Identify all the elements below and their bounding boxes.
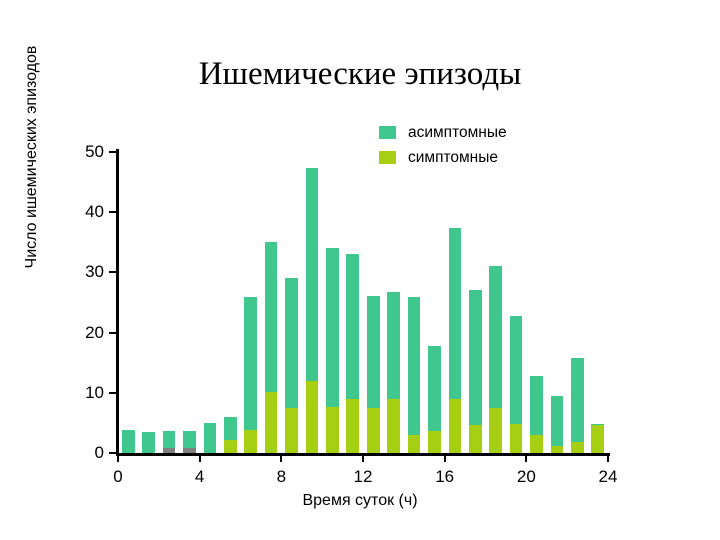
bar-hour-23 [591, 424, 604, 453]
bar-hour-8 [285, 278, 298, 453]
bar-segment-asymptomatic [469, 290, 482, 424]
bar-segment-symptomatic [387, 399, 400, 453]
bar-segment-asymptomatic [428, 346, 441, 431]
y-axis-tick-label: 10 [85, 383, 104, 403]
bar-segment-symptomatic [265, 392, 278, 453]
y-axis-label: Число ишемических эпизодов [23, 0, 41, 367]
bar-segment-asymptomatic [285, 278, 298, 407]
bar-segment-asymptomatic [183, 431, 196, 448]
x-axis-tick-label: 16 [435, 467, 454, 487]
bar-segment-symptomatic [469, 425, 482, 453]
bar-segment-asymptomatic [346, 254, 359, 399]
x-axis-tick [444, 453, 446, 462]
bar-segment-symptomatic [224, 440, 237, 453]
bar-segment-symptomatic [306, 381, 319, 453]
bar-hour-16 [449, 228, 462, 453]
bar-hour-9 [306, 168, 319, 453]
legend-item-asymptomatic: асимптомные [379, 122, 507, 143]
x-axis-tick [117, 453, 119, 462]
bar-hour-15 [428, 346, 441, 453]
bar-hour-13 [387, 292, 400, 453]
x-axis-label: Время суток (ч) [0, 492, 720, 510]
y-axis-tick-label: 0 [95, 443, 104, 463]
x-axis-tick-label: 12 [354, 467, 373, 487]
plot-area: 0102030405004812162024 [118, 152, 608, 453]
bar-hour-18 [489, 266, 502, 453]
bar-hour-20 [530, 376, 543, 453]
x-axis-tick-label: 8 [277, 467, 286, 487]
bar-segment-symptomatic [571, 442, 584, 453]
bar-segment-asymptomatic [387, 292, 400, 399]
y-axis-tick-label: 40 [85, 202, 104, 222]
bar-segment-asymptomatic [530, 376, 543, 435]
bar-hour-17 [469, 290, 482, 453]
bar-segment-asymptomatic [489, 266, 502, 407]
y-axis-tick-label: 30 [85, 262, 104, 282]
bar-segment-symptomatic [551, 446, 564, 453]
chart-title: Ишемические эпизоды [0, 56, 720, 92]
bar-segment-asymptomatic [510, 316, 523, 424]
y-axis-tick-label: 50 [85, 142, 104, 162]
bar-hour-11 [346, 254, 359, 453]
bar-segment-asymptomatic [367, 296, 380, 408]
y-axis-tick-label: 20 [85, 323, 104, 343]
bar-segment-asymptomatic [244, 297, 257, 430]
bar-hour-19 [510, 316, 523, 453]
bar-segment-symptomatic [449, 399, 462, 453]
bar-hour-14 [408, 297, 421, 454]
bar-hour-3 [183, 431, 196, 453]
bar-segment-symptomatic [408, 435, 421, 453]
bar-segment-asymptomatic [122, 430, 135, 453]
y-axis-tick [109, 151, 118, 153]
bar-segment-asymptomatic [224, 417, 237, 440]
bar-segment-symptomatic [326, 407, 339, 453]
bar-segment-symptomatic [367, 408, 380, 453]
bar-segment-symptomatic [489, 408, 502, 453]
bar-hour-6 [244, 297, 257, 454]
bar-segment-asymptomatic [571, 358, 584, 442]
y-axis-tick [109, 211, 118, 213]
bar-segment-symptomatic [530, 435, 543, 453]
bar-segment-asymptomatic [326, 248, 339, 407]
bar-hour-5 [224, 417, 237, 453]
bar-segment-asymptomatic [163, 431, 176, 448]
bar-hour-2 [163, 431, 176, 453]
bar-segment-asymptomatic [204, 423, 217, 453]
x-axis-tick-label: 0 [113, 467, 122, 487]
x-axis-tick [280, 453, 282, 462]
bar-segment-symptomatic [346, 399, 359, 453]
bar-segment-asymptomatic [265, 242, 278, 392]
bar-segment-asymptomatic [408, 297, 421, 435]
legend-swatch-asymptomatic [379, 126, 396, 139]
bar-segment-symptomatic [510, 424, 523, 453]
bar-hour-7 [265, 242, 278, 453]
x-axis-tick [607, 453, 609, 462]
bar-segment-other [163, 448, 176, 453]
bar-hour-22 [571, 358, 584, 453]
x-axis-tick-label: 20 [517, 467, 536, 487]
bar-hour-4 [204, 423, 217, 453]
x-axis-tick [199, 453, 201, 462]
x-axis-tick-label: 4 [195, 467, 204, 487]
bar-hour-12 [367, 296, 380, 453]
bar-segment-symptomatic [244, 430, 257, 453]
x-axis-tick [362, 453, 364, 462]
bar-hour-1 [142, 432, 155, 453]
bar-segment-asymptomatic [449, 228, 462, 399]
bar-segment-asymptomatic [551, 396, 564, 445]
y-axis-tick [109, 392, 118, 394]
bar-segment-symptomatic [428, 431, 441, 453]
bar-segment-other [183, 448, 196, 453]
y-axis-tick [109, 332, 118, 334]
bar-segment-symptomatic [591, 425, 604, 453]
bar-segment-symptomatic [285, 408, 298, 453]
bar-hour-21 [551, 396, 564, 453]
bar-hour-10 [326, 248, 339, 453]
legend-label-asymptomatic: асимптомные [408, 124, 507, 142]
bar-segment-asymptomatic [306, 168, 319, 381]
bar-segment-asymptomatic [142, 432, 155, 453]
y-axis-tick [109, 271, 118, 273]
x-axis-tick [525, 453, 527, 462]
x-axis-tick-label: 24 [599, 467, 618, 487]
bar-hour-0 [122, 430, 135, 453]
